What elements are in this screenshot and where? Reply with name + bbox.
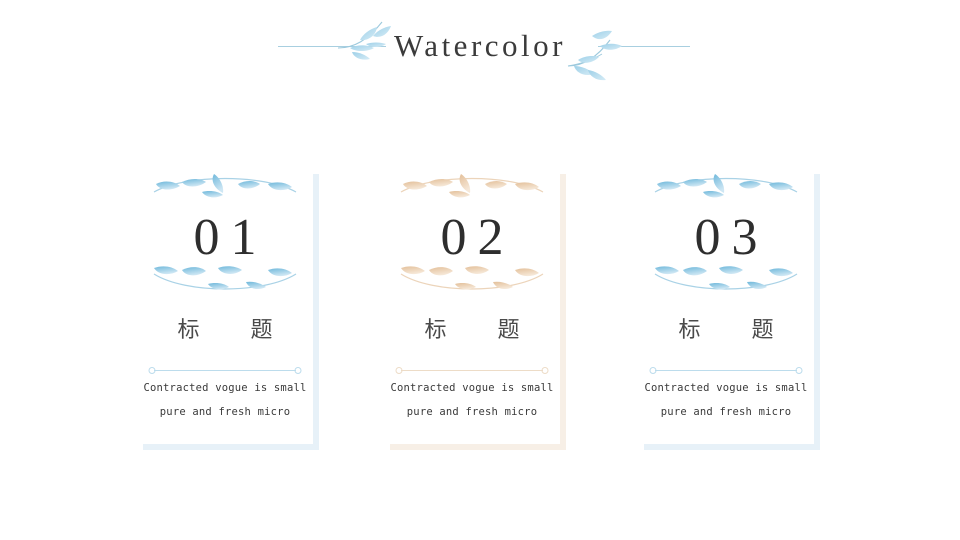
card-body-text: Contracted vogue is small pure and fresh… (642, 376, 810, 424)
leaf-branch-icon (393, 260, 551, 302)
card-body-text: Contracted vogue is small pure and fresh… (388, 376, 556, 424)
feature-card[interactable]: 03 标 题 (638, 168, 814, 444)
leaf-branch-icon (647, 260, 805, 302)
feature-card[interactable]: 02 标 题 (384, 168, 560, 444)
leaf-branch-icon (146, 260, 304, 302)
page-title: Watercolor (0, 25, 960, 67)
leaf-branch-icon (146, 170, 304, 212)
card-number: 01 (137, 210, 313, 266)
card-body-text: Contracted vogue is small pure and fresh… (141, 376, 309, 424)
card-title: 标 题 (137, 316, 313, 346)
line-divider-icon (148, 366, 302, 375)
line-divider-icon (649, 366, 803, 375)
card-number: 02 (384, 210, 560, 266)
leaf-branch-icon (393, 170, 551, 212)
leaf-branch-icon (647, 170, 805, 212)
card-number: 03 (638, 210, 814, 266)
feature-card[interactable]: 01 标 题 (137, 168, 313, 444)
line-divider-icon (395, 366, 549, 375)
card-title: 标 题 (638, 316, 814, 346)
cards-row: 01 标 题 (0, 168, 960, 458)
slide-header: Watercolor (0, 0, 960, 90)
card-title: 标 题 (384, 316, 560, 346)
